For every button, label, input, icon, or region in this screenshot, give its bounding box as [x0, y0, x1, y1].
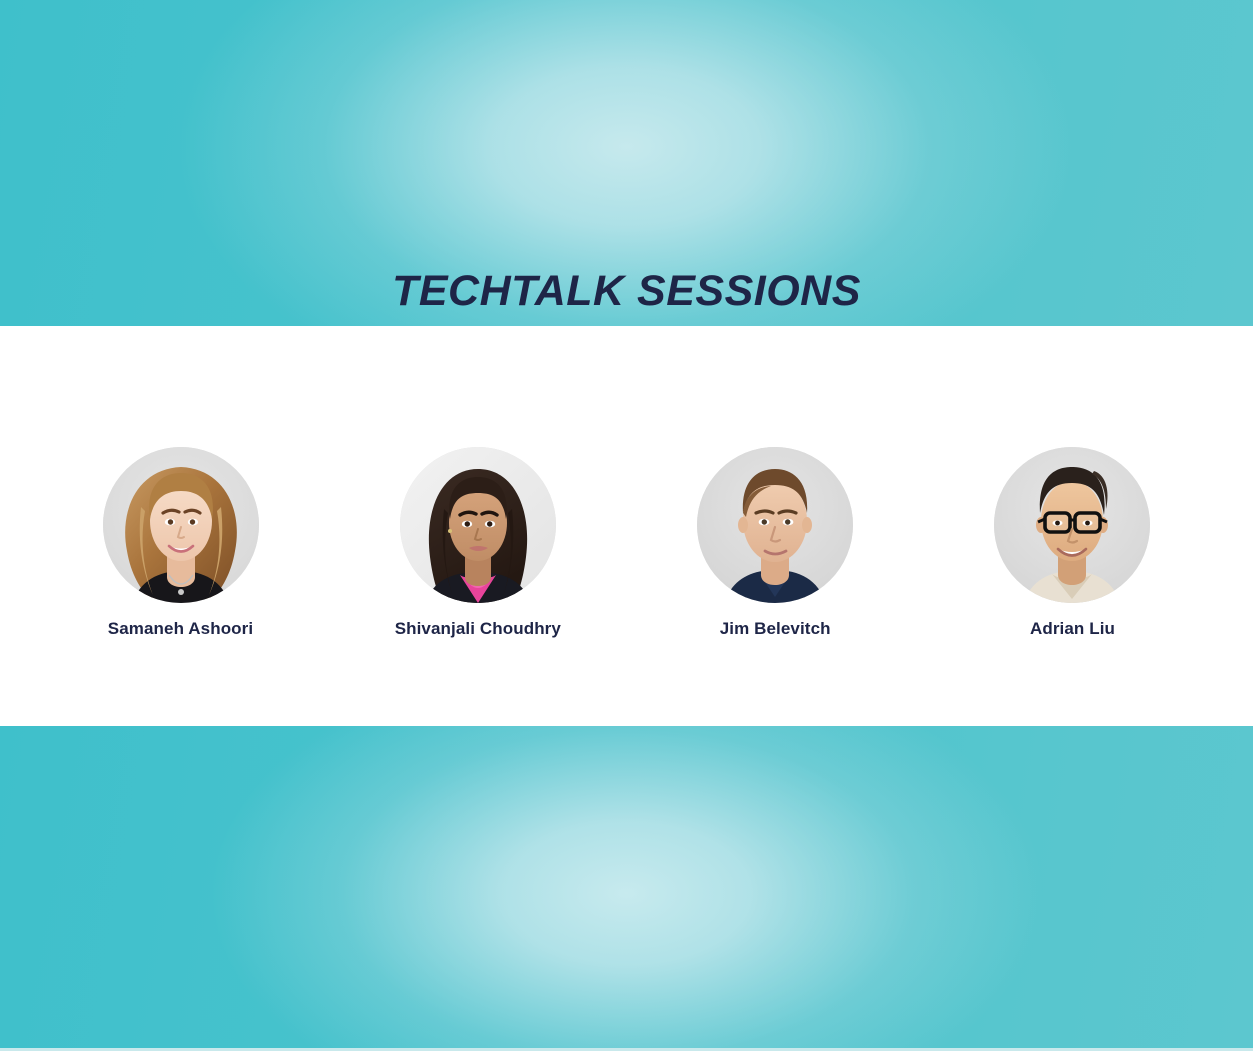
speakers-panel: Samaneh Ashoori — [0, 326, 1253, 726]
speaker-card-1[interactable]: Samaneh Ashoori — [35, 326, 326, 639]
speaker-name-1: Samaneh Ashoori — [108, 619, 253, 639]
avatar-shivanjali-choudhry — [400, 447, 556, 603]
speaker-name-3: Jim Belevitch — [720, 619, 831, 639]
speaker-card-4[interactable]: Adrian Liu — [927, 326, 1218, 639]
slide-canvas: TECHTALK SESSIONS — [0, 0, 1253, 1051]
speakers-row: Samaneh Ashoori — [35, 326, 1218, 726]
speaker-name-4: Adrian Liu — [1030, 619, 1115, 639]
speaker-name-2: Shivanjali Choudhry — [395, 619, 561, 639]
page-title-container: TECHTALK SESSIONS — [0, 268, 1253, 315]
page-title: TECHTALK SESSIONS — [392, 268, 861, 315]
portrait-photo-icon — [400, 447, 556, 603]
portrait-photo-icon — [697, 447, 853, 603]
portrait-photo-icon — [994, 447, 1150, 603]
avatar-jim-belevitch — [697, 447, 853, 603]
bottom-gradient-banner — [0, 726, 1253, 1048]
avatar-samaneh-ashoori — [103, 447, 259, 603]
portrait-photo-icon — [103, 447, 259, 603]
speaker-card-3[interactable]: Jim Belevitch — [630, 326, 921, 639]
speaker-card-2[interactable]: Shivanjali Choudhry — [332, 326, 623, 639]
avatar-adrian-liu — [994, 447, 1150, 603]
